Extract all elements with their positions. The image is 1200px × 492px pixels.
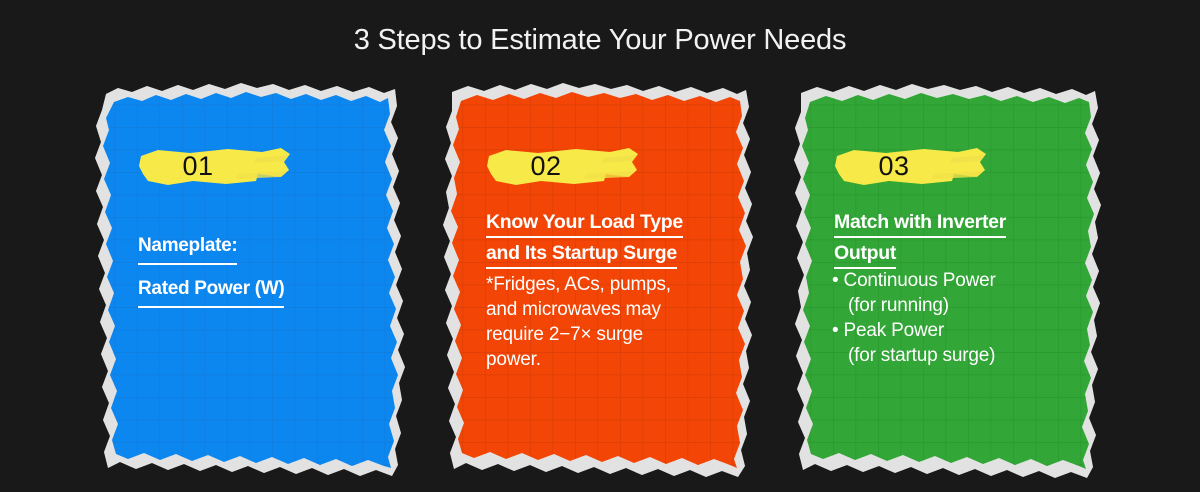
card-content-2: 02 Know Your Load Type and Its Startup S…	[440, 82, 760, 482]
card-content-1: 01 Nameplate: Rated Power (W)	[92, 82, 412, 482]
heading-line: and Its Startup Surge	[486, 241, 677, 269]
step-badge-3: 03	[834, 144, 994, 188]
heading-line: Output	[834, 241, 896, 269]
step-number-3: 03	[834, 144, 954, 188]
step-card-2: 02 Know Your Load Type and Its Startup S…	[440, 82, 760, 482]
body-line: *Fridges, ACs, pumps,	[486, 272, 736, 297]
step-card-1: 01 Nameplate: Rated Power (W)	[92, 82, 412, 482]
body-line: require 2−7× surge	[486, 322, 736, 347]
card-heading-1: Nameplate: Rated Power (W)	[138, 230, 382, 316]
step-badge-1: 01	[138, 144, 298, 188]
card-heading-2: Know Your Load Type and Its Startup Surg…	[486, 210, 730, 272]
heading-line: Know Your Load Type	[486, 210, 683, 238]
step-card-3: 03 Match with Inverter Output • Continuo…	[788, 82, 1108, 482]
step-number-2: 02	[486, 144, 606, 188]
bullet-marker: •	[832, 270, 838, 291]
list-item: • Peak Power (for startup surge)	[832, 318, 1094, 368]
card-bullet-list-3: • Continuous Power (for running) • Peak …	[832, 268, 1094, 368]
bullet-text: Peak Power	[844, 320, 944, 341]
body-line: and microwaves may	[486, 297, 736, 322]
bullet-text: Continuous Power	[844, 270, 996, 291]
step-badge-2: 02	[486, 144, 646, 188]
body-line: power.	[486, 347, 736, 372]
card-content-3: 03 Match with Inverter Output • Continuo…	[788, 82, 1108, 482]
list-item: • Continuous Power (for running)	[832, 268, 1094, 318]
card-heading-3: Match with Inverter Output	[834, 210, 1078, 272]
bullet-subtext: (for running)	[832, 293, 1094, 318]
card-body-2: *Fridges, ACs, pumps, and microwaves may…	[486, 272, 736, 372]
infographic-canvas: 3 Steps to Estimate Your Power Needs	[0, 0, 1200, 492]
page-title: 3 Steps to Estimate Your Power Needs	[0, 24, 1200, 57]
heading-line: Nameplate:	[138, 230, 237, 265]
heading-line: Match with Inverter	[834, 210, 1006, 238]
bullet-marker: •	[832, 320, 838, 341]
step-number-1: 01	[138, 144, 258, 188]
bullet-subtext: (for startup surge)	[832, 343, 1094, 368]
heading-line: Rated Power (W)	[138, 273, 284, 308]
